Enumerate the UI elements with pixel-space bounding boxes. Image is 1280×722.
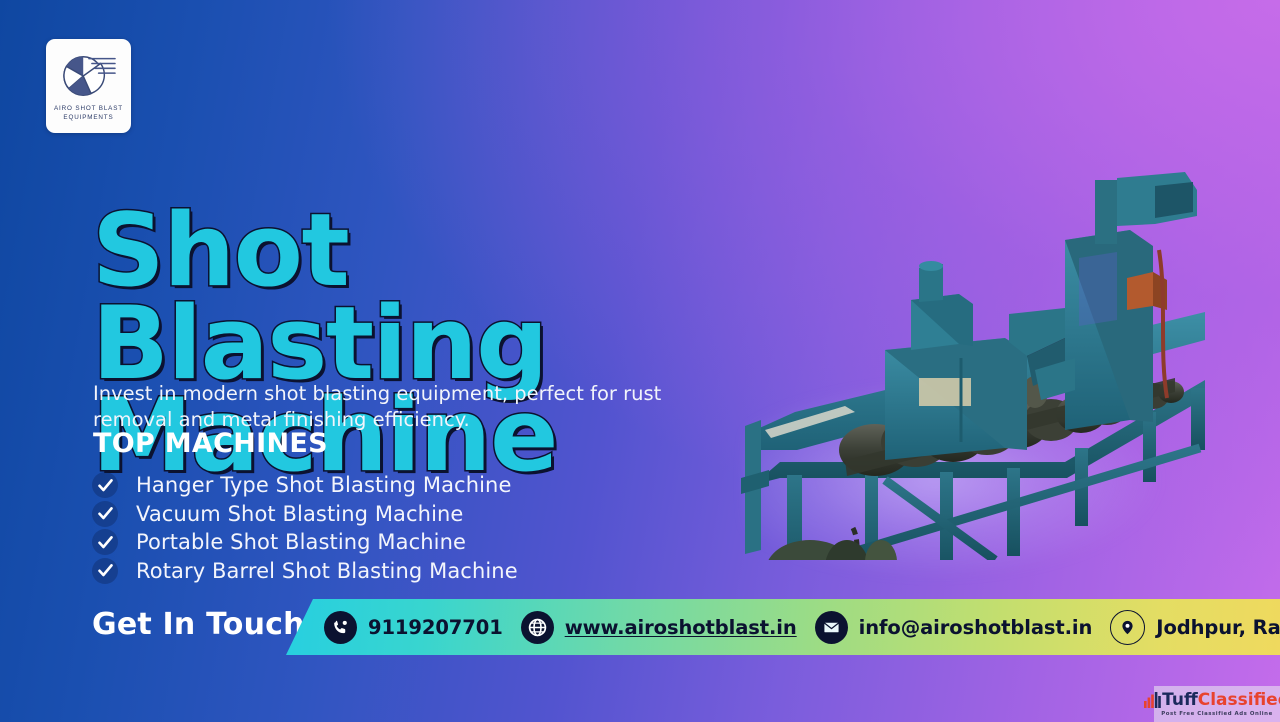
website-url[interactable]: www.airoshotblast.in	[565, 616, 797, 639]
features-list: Hanger Type Shot Blasting Machine Vacuum…	[92, 471, 652, 585]
list-item: Hanger Type Shot Blasting Machine	[92, 471, 652, 500]
email-address: info@airoshotblast.in	[859, 616, 1093, 639]
brand-logo-line2: EQUIPMENTS	[54, 114, 123, 123]
contact-location[interactable]: Jodhpur, Rajasthan, India	[1110, 610, 1280, 645]
get-in-touch-label: Get In Touch	[92, 607, 305, 642]
tuffclassified-watermark[interactable]: Tuff Classified Post Free Classified Ads…	[1154, 686, 1280, 722]
list-item: Vacuum Shot Blasting Machine	[92, 500, 652, 529]
phone-icon	[324, 611, 357, 644]
features-title: TOP MACHINES	[93, 428, 328, 459]
check-icon	[92, 501, 118, 527]
list-item: Rotary Barrel Shot Blasting Machine	[92, 557, 652, 586]
feature-label: Vacuum Shot Blasting Machine	[136, 502, 463, 526]
headline-line-1: Shot Blasting	[92, 191, 547, 402]
watermark-name-2: Classified	[1198, 692, 1280, 709]
location-pin-icon	[1110, 610, 1145, 645]
globe-icon	[521, 611, 554, 644]
contact-bar: 9119207701 www.airoshotblast.in	[286, 599, 1280, 655]
bar-chart-icon	[1144, 692, 1161, 708]
brand-logo-line1: AIRO SHOT BLAST	[54, 105, 123, 114]
contact-email[interactable]: info@airoshotblast.in	[815, 611, 1093, 644]
location-text: Jodhpur, Rajasthan, India	[1156, 616, 1280, 639]
contact-phone[interactable]: 9119207701	[324, 611, 503, 644]
feature-label: Rotary Barrel Shot Blasting Machine	[136, 559, 518, 583]
list-item: Portable Shot Blasting Machine	[92, 528, 652, 557]
brand-logo-text: AIRO SHOT BLAST EQUIPMENTS	[54, 105, 123, 123]
watermark-name-1: Tuff	[1162, 692, 1198, 709]
product-image	[735, 130, 1235, 560]
shot-blasting-machine-illustration	[735, 130, 1235, 560]
envelope-icon	[815, 611, 848, 644]
watermark-row: Tuff Classified	[1144, 692, 1280, 709]
check-icon	[92, 529, 118, 555]
impeller-wheel-icon	[60, 50, 118, 102]
phone-number: 9119207701	[368, 616, 503, 639]
brand-logo[interactable]: AIRO SHOT BLAST EQUIPMENTS	[46, 39, 131, 133]
hero-subtitle: Invest in modern shot blasting equipment…	[93, 381, 693, 434]
feature-label: Portable Shot Blasting Machine	[136, 530, 466, 554]
promo-banner: AIRO SHOT BLAST EQUIPMENTS	[0, 0, 1280, 722]
check-icon	[92, 558, 118, 584]
contact-website[interactable]: www.airoshotblast.in	[521, 611, 797, 644]
watermark-tagline: Post Free Classified Ads Online	[1161, 711, 1273, 717]
feature-label: Hanger Type Shot Blasting Machine	[136, 473, 511, 497]
check-icon	[92, 472, 118, 498]
